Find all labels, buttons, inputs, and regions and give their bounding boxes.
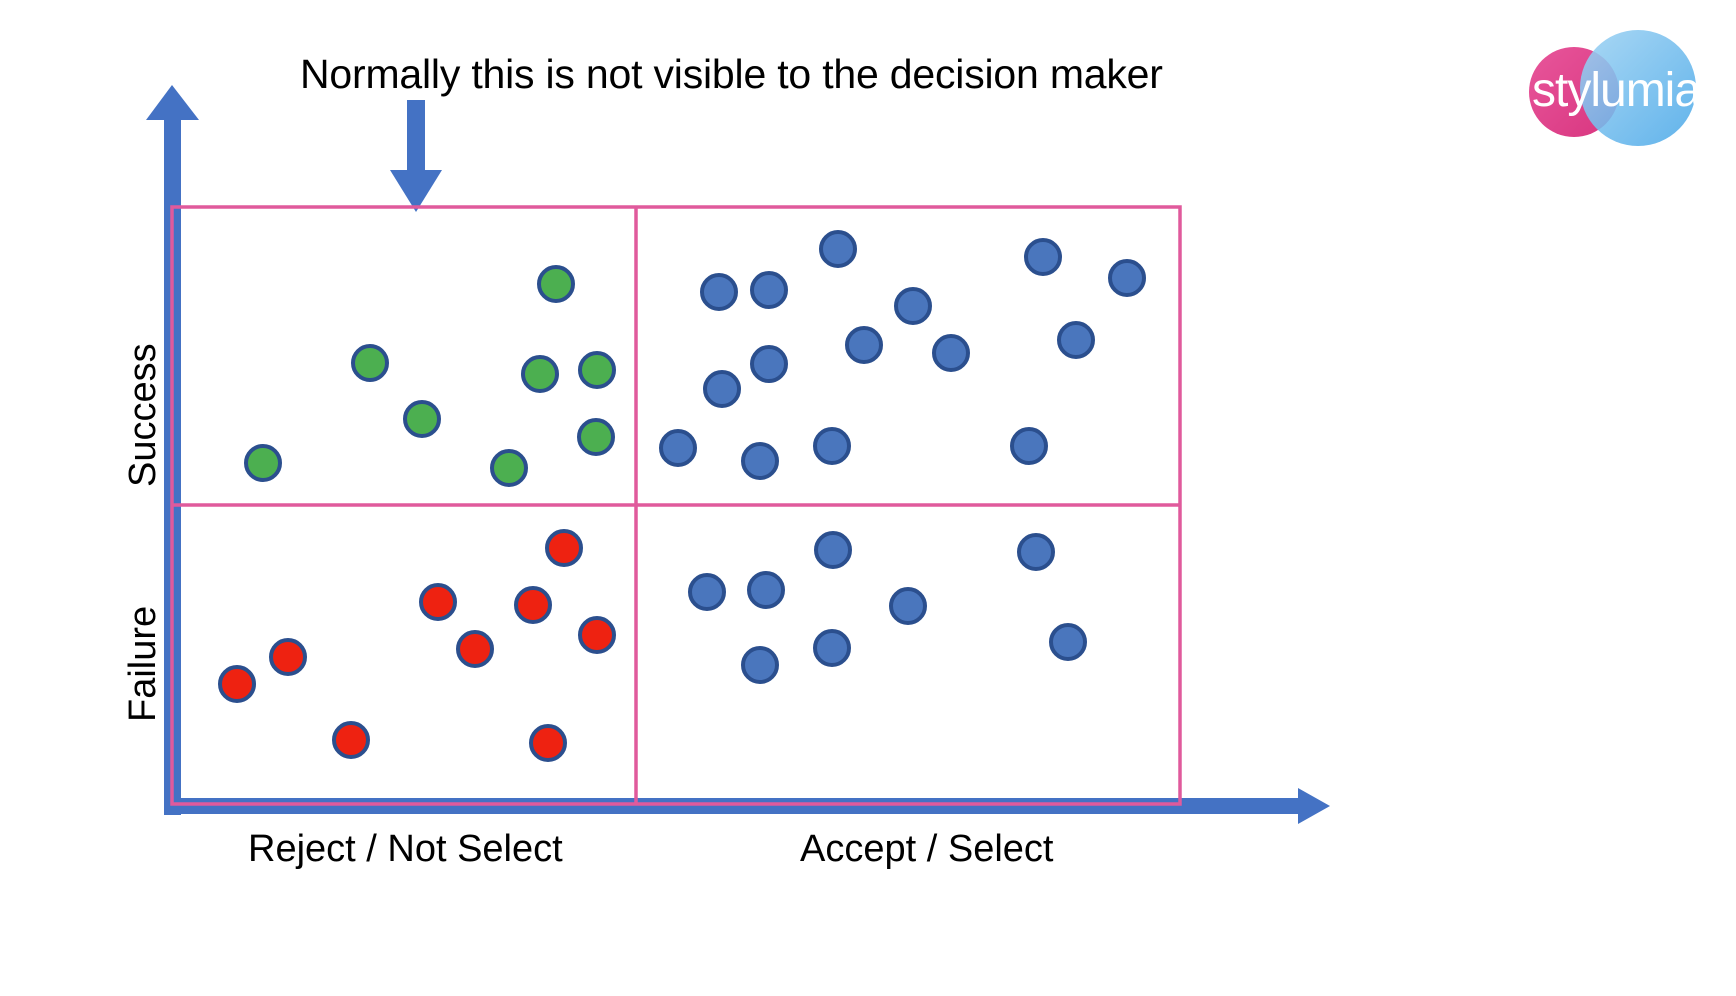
- x-axis-label-reject: Reject / Not Select: [248, 828, 563, 871]
- data-point: [458, 632, 492, 666]
- series-bottom_left: [220, 531, 614, 760]
- data-point: [405, 402, 439, 436]
- logo-wordmark: stylumia: [1532, 64, 1701, 117]
- data-point: [896, 289, 930, 323]
- data-point: [579, 420, 613, 454]
- data-point: [690, 575, 724, 609]
- y-axis-label-failure: Failure: [122, 606, 165, 722]
- x-axis: [164, 788, 1330, 824]
- down-arrow-icon: [390, 100, 442, 212]
- data-point: [539, 267, 573, 301]
- data-point: [271, 640, 305, 674]
- y-axis-label-success: Success: [122, 343, 165, 487]
- data-point: [891, 589, 925, 623]
- data-point: [705, 372, 739, 406]
- x-axis-label-accept: Accept / Select: [800, 828, 1053, 871]
- data-point: [743, 648, 777, 682]
- data-point: [702, 275, 736, 309]
- data-point: [1059, 323, 1093, 357]
- data-point: [749, 573, 783, 607]
- data-point: [752, 273, 786, 307]
- data-point: [334, 723, 368, 757]
- data-point: [246, 446, 280, 480]
- series-top_left: [246, 267, 614, 485]
- data-point: [847, 328, 881, 362]
- data-point: [743, 444, 777, 478]
- quadrant-frame: [172, 207, 1180, 804]
- data-point: [1051, 625, 1085, 659]
- data-point: [516, 588, 550, 622]
- data-point: [421, 585, 455, 619]
- data-point: [1026, 240, 1060, 274]
- data-point: [580, 353, 614, 387]
- data-point: [580, 618, 614, 652]
- data-point: [1110, 261, 1144, 295]
- series-bottom_right: [690, 533, 1085, 682]
- data-points-layer: [220, 232, 1144, 760]
- series-top_right: [661, 232, 1144, 478]
- data-point: [821, 232, 855, 266]
- data-point: [815, 631, 849, 665]
- data-point: [492, 451, 526, 485]
- slide-canvas: Normally this is not visible to the deci…: [0, 0, 1736, 996]
- data-point: [353, 346, 387, 380]
- data-point: [523, 357, 557, 391]
- data-point: [220, 667, 254, 701]
- data-point: [531, 726, 565, 760]
- data-point: [661, 431, 695, 465]
- data-point: [934, 336, 968, 370]
- stylumia-logo: stylumia: [1526, 26, 1716, 152]
- data-point: [1019, 535, 1053, 569]
- data-point: [1012, 429, 1046, 463]
- data-point: [752, 347, 786, 381]
- data-point: [547, 531, 581, 565]
- data-point: [815, 429, 849, 463]
- data-point: [816, 533, 850, 567]
